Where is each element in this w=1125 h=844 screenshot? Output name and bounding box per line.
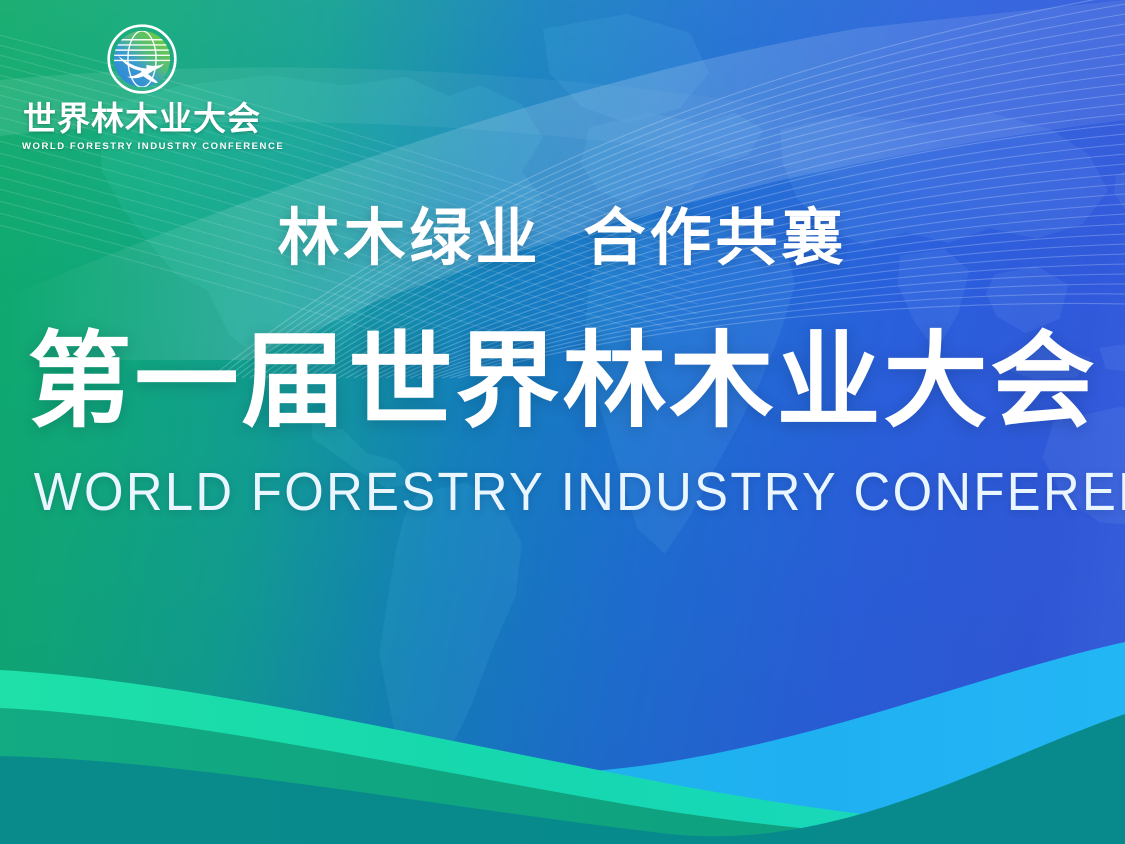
logo-english-name: WORLD FORESTRY INDUSTRY CONFERENCE [22,142,262,152]
tagline-part-right: 合作共襄 [584,204,848,273]
page-title: 第一届世界林木业大会 [0,329,1125,435]
page-subtitle: WORLD FORESTRY INDUSTRY CONFERENCE [34,465,1092,519]
tagline: 林木绿业合作共襄 [0,206,1125,273]
conference-poster: 世界林木业大会 WORLD FORESTRY INDUSTRY CONFEREN… [0,0,1125,844]
headline-stack: 林木绿业合作共襄 第一届世界林木业大会 WORLD FORESTRY INDUS… [0,206,1125,519]
tagline-part-left: 林木绿业 [277,204,541,273]
bottom-waves [0,544,1125,844]
globe-leaf-emblem-icon [105,22,179,96]
logo-chinese-name: 世界林木业大会 [22,102,262,135]
conference-logo: 世界林木业大会 WORLD FORESTRY INDUSTRY CONFEREN… [22,22,262,152]
